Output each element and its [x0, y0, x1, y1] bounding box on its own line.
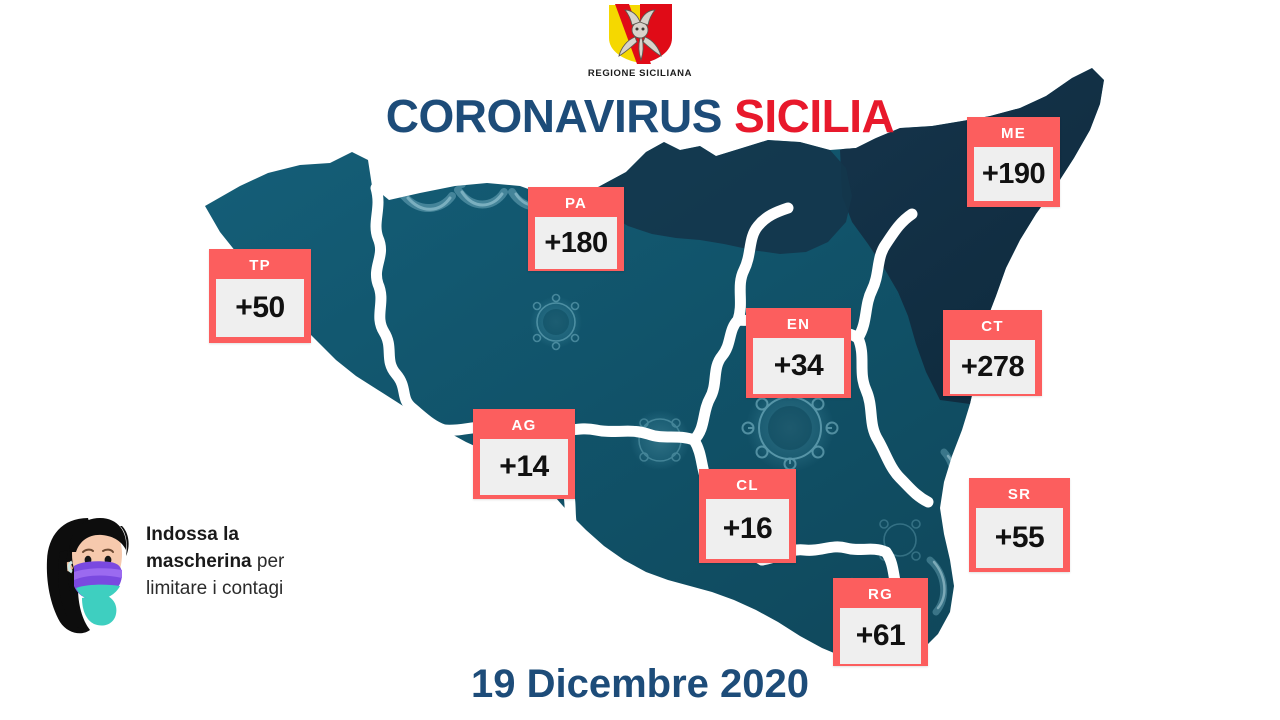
province-marker-tp[interactable]: TP+50 — [209, 249, 311, 343]
province-code-label: TP — [249, 249, 271, 279]
province-marker-ag[interactable]: AG+14 — [473, 409, 575, 499]
infographic-canvas: REGIONE SICILIANA CORONAVIRUS SICILIA TP… — [0, 0, 1280, 720]
province-marker-en[interactable]: EN+34 — [746, 308, 851, 398]
province-marker-cl[interactable]: CL+16 — [699, 469, 796, 563]
logo-caption: REGIONE SICILIANA — [588, 68, 692, 79]
province-code-label: RG — [868, 578, 893, 608]
province-code-label: CT — [981, 310, 1003, 340]
title-sicilia: SICILIA — [734, 90, 894, 142]
report-date: 19 Dicembre 2020 — [0, 662, 1280, 707]
province-code-label: CL — [736, 469, 758, 499]
province-new-cases-value: +55 — [976, 508, 1063, 568]
awareness-line2-tail: per — [252, 551, 285, 572]
province-new-cases-value: +34 — [753, 338, 844, 394]
province-new-cases-value: +180 — [535, 217, 617, 269]
trinacria-shield-icon — [605, 2, 675, 65]
province-new-cases-value: +190 — [974, 147, 1053, 201]
province-new-cases-value: +50 — [216, 279, 304, 337]
province-code-label: SR — [1008, 478, 1031, 508]
awareness-line1: Indossa la — [146, 524, 239, 545]
province-new-cases-value: +61 — [840, 608, 921, 664]
page-title: CORONAVIRUS SICILIA — [0, 93, 1280, 139]
awareness-line2: mascherina — [146, 551, 252, 572]
title-coronavirus: CORONAVIRUS — [386, 90, 722, 142]
province-new-cases-value: +14 — [480, 439, 568, 495]
mask-awareness-block: Indossa la mascherina per limitare i con… — [38, 512, 338, 642]
province-marker-sr[interactable]: SR+55 — [969, 478, 1070, 572]
regione-siciliana-logo: REGIONE SICILIANA — [565, 2, 715, 88]
province-marker-pa[interactable]: PA+180 — [528, 187, 624, 271]
province-new-cases-value: +16 — [706, 499, 789, 559]
province-code-label: ME — [1001, 117, 1026, 147]
province-marker-rg[interactable]: RG+61 — [833, 578, 928, 666]
province-code-label: AG — [512, 409, 537, 439]
province-marker-me[interactable]: ME+190 — [967, 117, 1060, 207]
awareness-line3: limitare i contagi — [146, 578, 283, 599]
woman-wearing-mask-icon — [38, 512, 138, 637]
province-new-cases-value: +278 — [950, 340, 1035, 394]
province-marker-ct[interactable]: CT+278 — [943, 310, 1042, 396]
mask-awareness-text: Indossa la mascherina per limitare i con… — [146, 522, 341, 603]
province-code-label: EN — [787, 308, 810, 338]
province-code-label: PA — [565, 187, 587, 217]
